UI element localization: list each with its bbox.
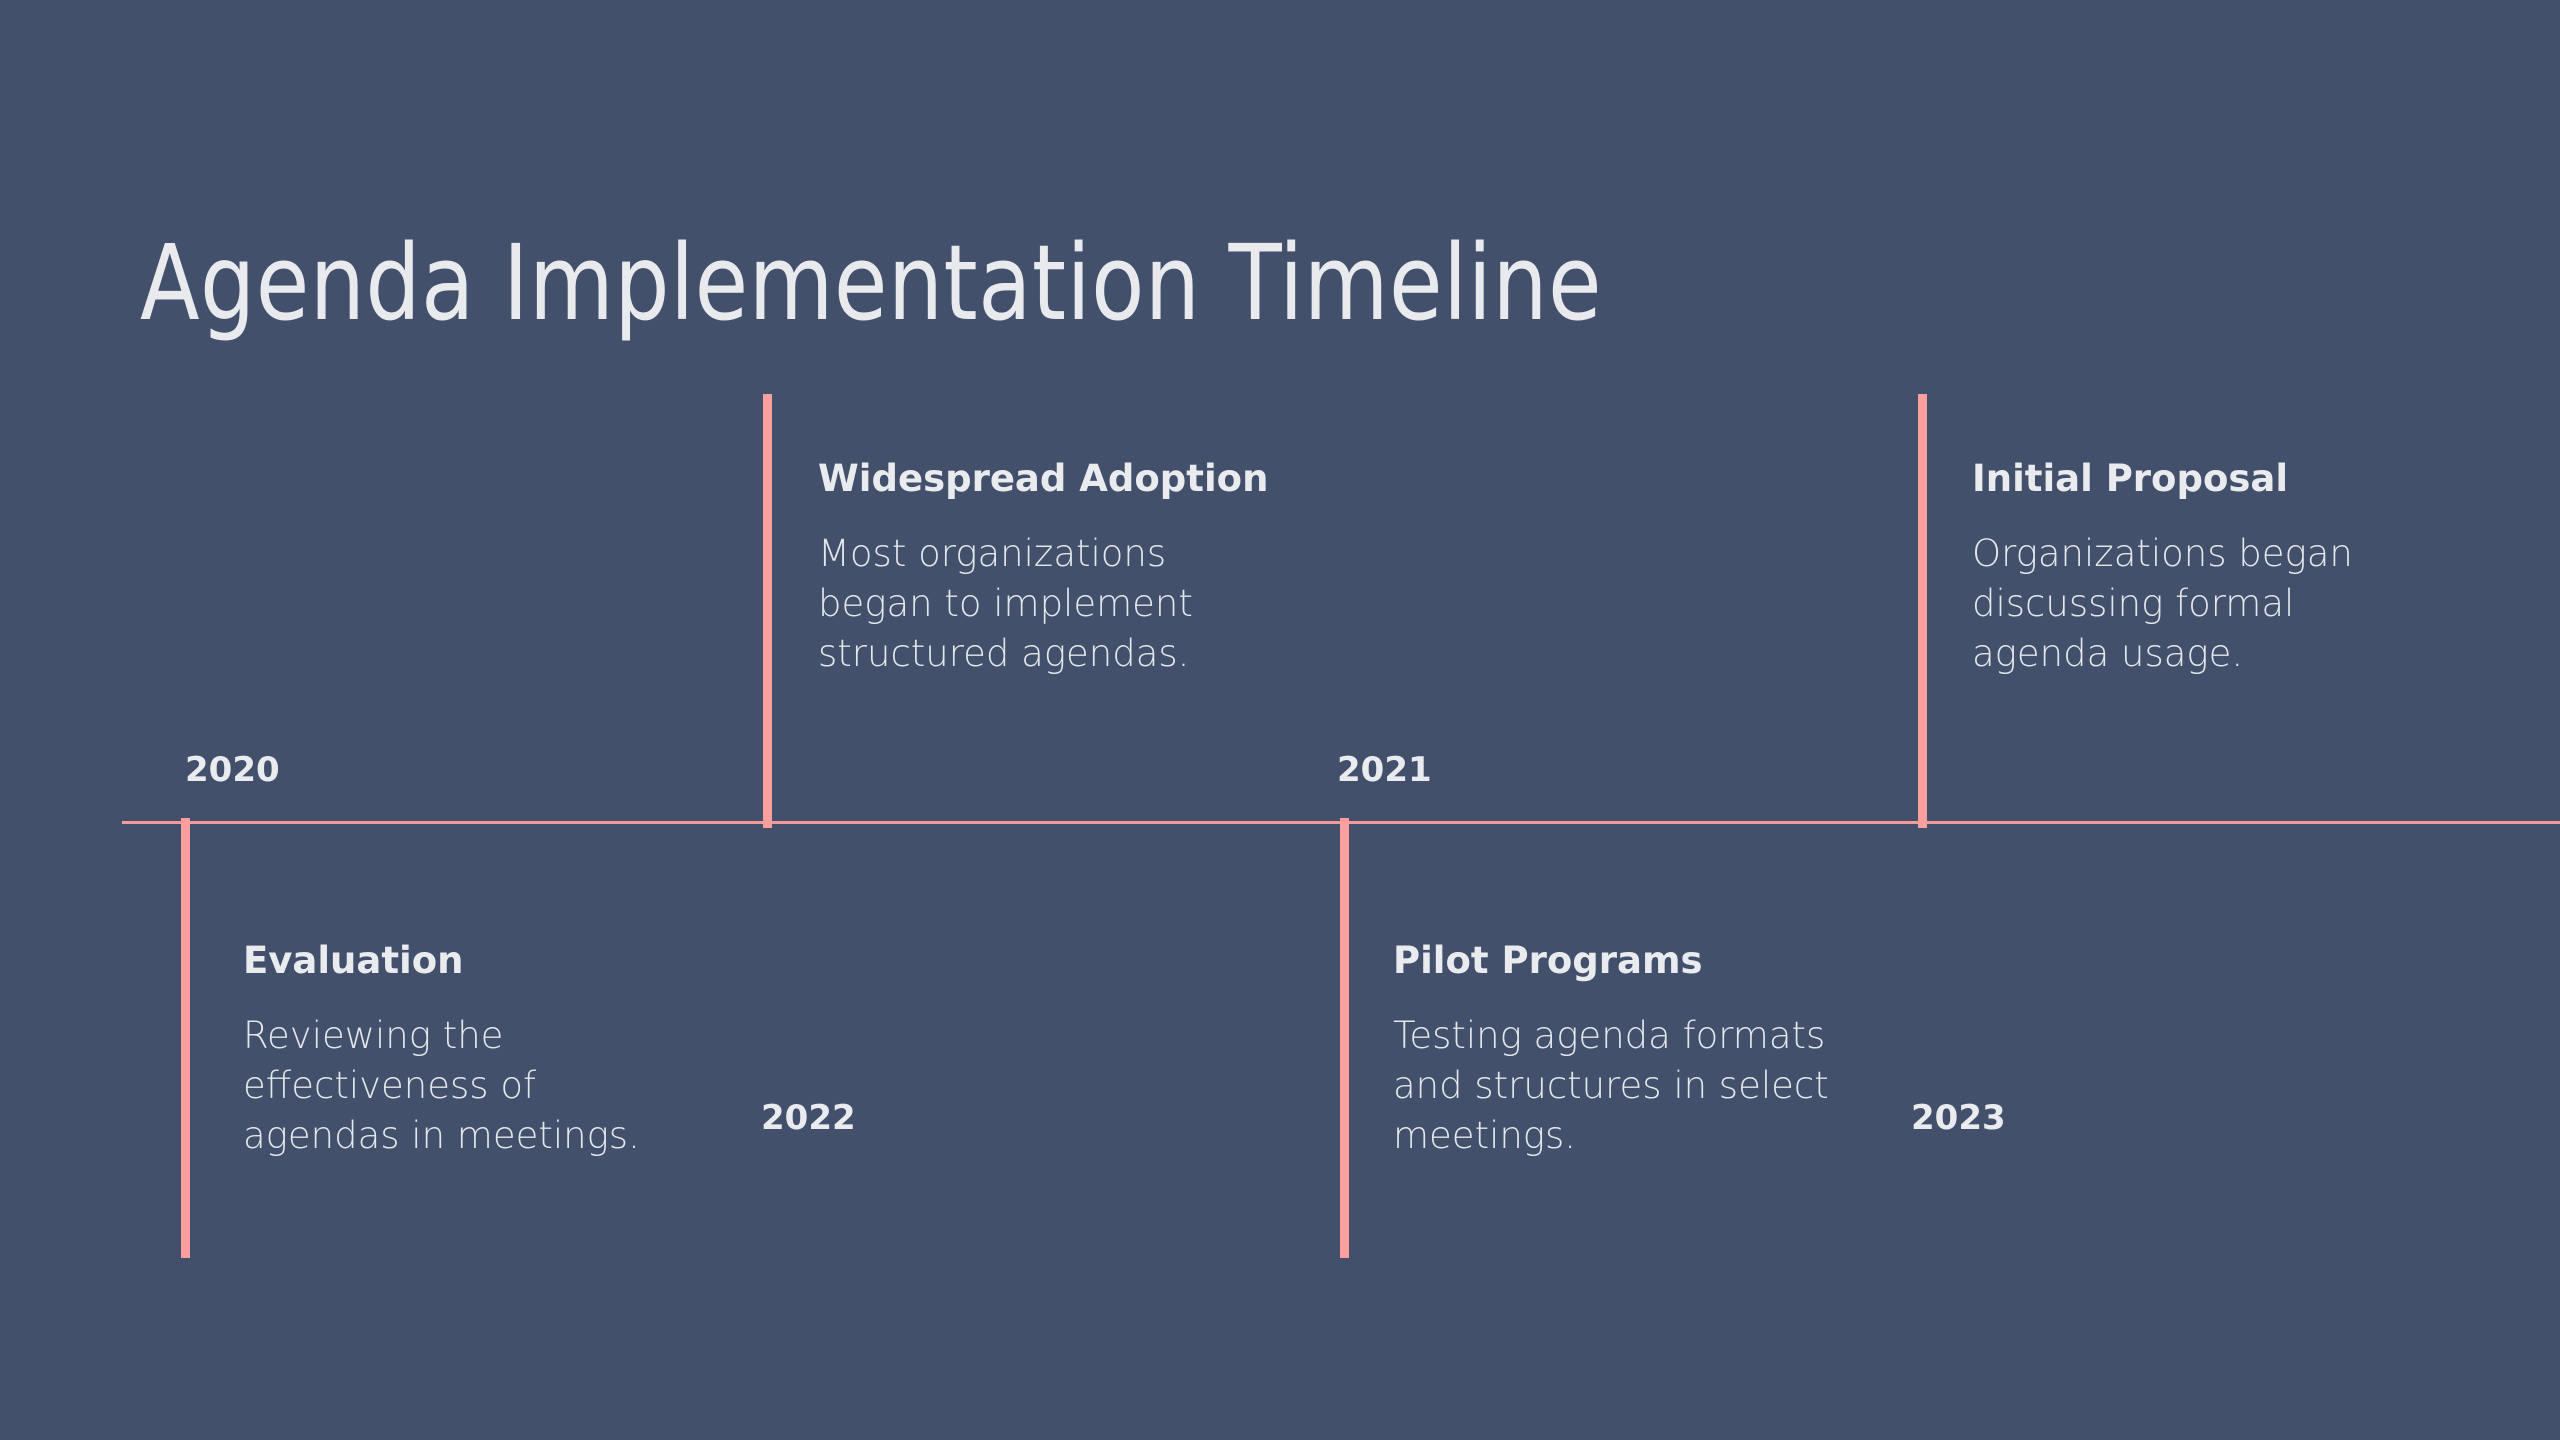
year-label-2021: 2021 (1337, 750, 1432, 790)
milestone-description: Testing agenda formats and structures in… (1393, 1011, 1863, 1162)
timeline-marker-2021 (1340, 818, 1349, 1258)
page-title: Agenda Implementation Timeline (140, 222, 1602, 344)
timeline-marker-2020 (181, 818, 190, 1258)
milestone-pilot-programs: Pilot Programs Testing agenda formats an… (1393, 940, 1863, 1161)
milestone-title: Pilot Programs (1393, 940, 1863, 983)
timeline-marker-2023 (1918, 394, 1927, 828)
milestone-description: Most organizations began to implement st… (818, 529, 1248, 680)
timeline-marker-2022 (763, 394, 772, 828)
year-label-2023: 2023 (1911, 1098, 2006, 1138)
milestone-title: Widespread Adoption (818, 458, 1248, 501)
milestone-description: Reviewing the effectiveness of agendas i… (243, 1011, 673, 1162)
milestone-initial-proposal: Initial Proposal Organizations began dis… (1972, 458, 2402, 679)
milestone-title: Evaluation (243, 940, 673, 983)
milestone-title: Initial Proposal (1972, 458, 2402, 501)
year-label-2020: 2020 (185, 750, 280, 790)
milestone-evaluation: Evaluation Reviewing the effectiveness o… (243, 940, 673, 1161)
milestone-description: Organizations began discussing formal ag… (1972, 529, 2402, 680)
milestone-widespread-adoption: Widespread Adoption Most organizations b… (818, 458, 1248, 679)
year-label-2022: 2022 (761, 1098, 856, 1138)
timeline-slide: Agenda Implementation Timeline Widesprea… (0, 0, 2560, 1440)
